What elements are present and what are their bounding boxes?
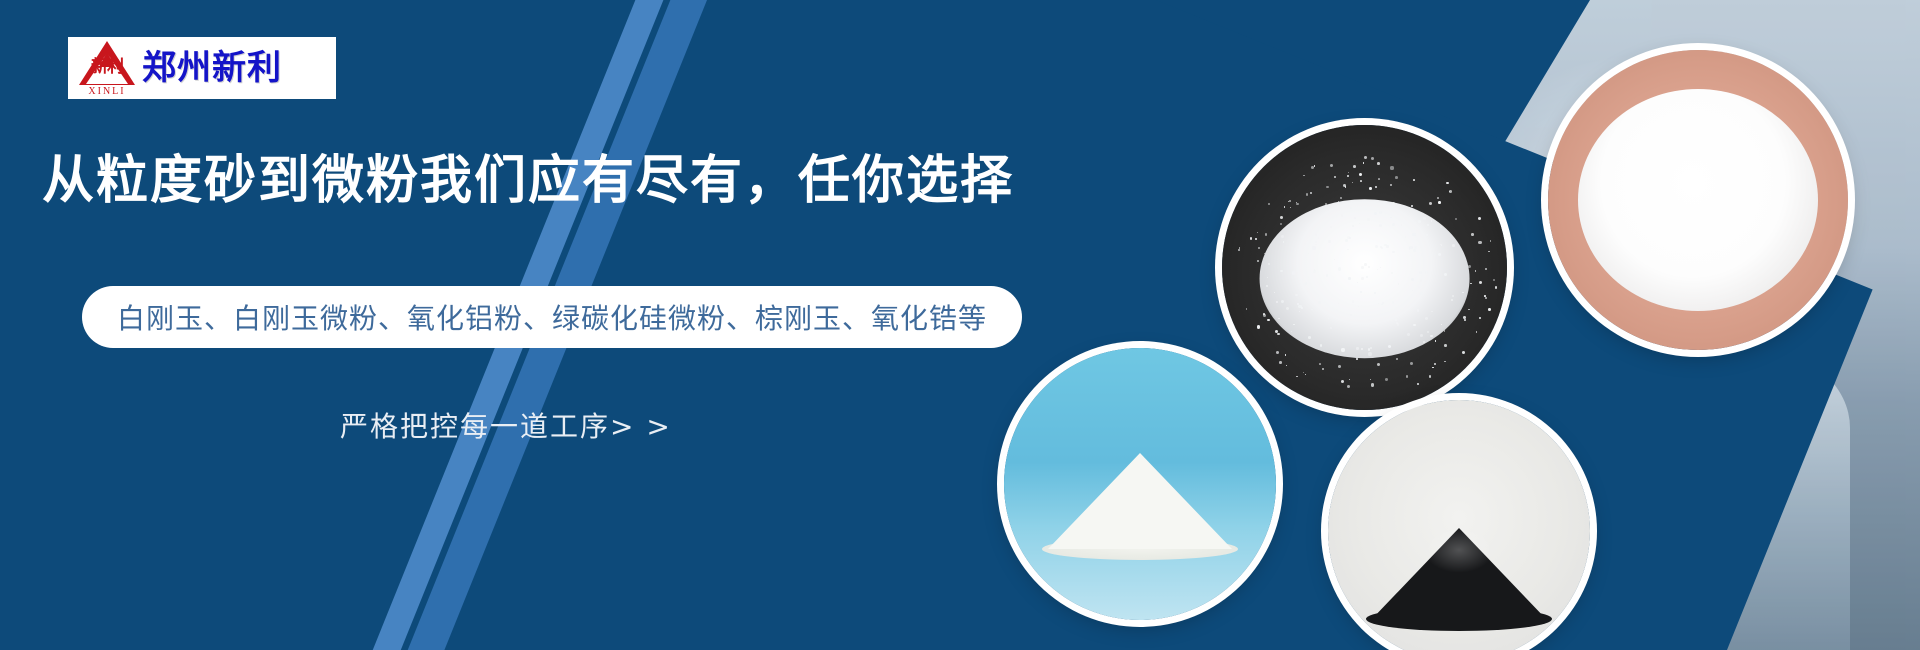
grit-speck <box>1347 175 1349 177</box>
grit-speck <box>1468 309 1469 310</box>
grit-speck <box>1368 266 1370 268</box>
grit-speck <box>1493 279 1495 281</box>
grit-speck <box>1281 300 1284 303</box>
grit-speck <box>1258 247 1260 249</box>
grit-speck <box>1441 324 1442 325</box>
grit-speck <box>1413 324 1415 326</box>
powder-pile <box>1578 89 1818 311</box>
grit-speck <box>1289 200 1291 202</box>
grit-speck <box>1308 253 1309 254</box>
grit-speck <box>1478 241 1481 244</box>
grit-speck <box>1377 363 1380 366</box>
photo-inner <box>1222 125 1507 410</box>
grit-speck <box>1368 319 1370 321</box>
grit-speck <box>1366 276 1368 278</box>
grit-speck <box>1495 286 1498 289</box>
grit-speck <box>1385 378 1388 381</box>
photo-inner <box>1548 50 1848 350</box>
grit-speck <box>1238 249 1240 251</box>
grit-speck <box>1412 233 1415 236</box>
grit-speck <box>1390 166 1393 169</box>
grit-speck <box>1349 237 1350 238</box>
logo-mark-text: 新利 <box>76 59 138 76</box>
grit-speck <box>1418 220 1421 223</box>
grit-speck <box>1479 281 1482 284</box>
grit-speck <box>1392 202 1395 205</box>
headline: 从粒度砂到微粉我们应有尽有，任你选择 <box>42 138 1014 213</box>
grit-speck <box>1406 375 1409 378</box>
grit-speck <box>1420 279 1422 281</box>
grit-speck <box>1350 207 1352 209</box>
product-photo-white-grit <box>1222 125 1507 410</box>
grit-speck <box>1268 203 1270 205</box>
grit-speck <box>1312 246 1315 249</box>
grit-speck <box>1471 233 1474 236</box>
grit-speck <box>1382 302 1384 304</box>
grit-speck <box>1304 243 1305 244</box>
grit-speck <box>1348 172 1349 173</box>
grit-speck <box>1328 240 1331 243</box>
grit-speck <box>1368 352 1371 355</box>
grit-speck <box>1320 344 1323 347</box>
grit-speck <box>1322 368 1324 370</box>
grit-speck <box>1358 306 1359 307</box>
grit-speck <box>1455 218 1458 221</box>
grit-speck <box>1334 176 1337 179</box>
grit-speck <box>1338 365 1341 368</box>
grit-speck <box>1291 331 1292 332</box>
grit-speck <box>1326 186 1329 189</box>
grit-speck <box>1298 305 1301 308</box>
grit-speck <box>1488 251 1490 253</box>
product-photo-white-micro-powder <box>1548 50 1848 350</box>
grit-speck <box>1432 367 1433 368</box>
product-list-pill[interactable]: 白刚玉、白刚玉微粉、氧化铝粉、绿碳化硅微粉、棕刚玉、氧化锆等 <box>82 286 1022 348</box>
grit-speck <box>1444 273 1447 276</box>
grit-speck <box>1280 216 1283 219</box>
grit-speck <box>1347 385 1350 388</box>
grit-speck <box>1314 165 1315 166</box>
grit-speck <box>1437 197 1439 199</box>
grit-speck <box>1375 186 1377 188</box>
grit-speck <box>1485 297 1487 299</box>
grit-speck <box>1427 331 1429 333</box>
grit-speck <box>1444 330 1446 332</box>
grit-speck <box>1313 270 1315 272</box>
grit-speck <box>1427 224 1429 226</box>
grit-speck <box>1330 327 1331 328</box>
grit-speck <box>1413 179 1415 181</box>
grit-speck <box>1300 279 1302 281</box>
grit-speck <box>1444 344 1447 347</box>
grit-speck <box>1410 362 1413 365</box>
grit-speck <box>1307 291 1308 292</box>
grit-speck <box>1341 348 1344 351</box>
grit-speck <box>1413 249 1416 252</box>
grit-speck <box>1250 237 1253 240</box>
grit-speck <box>1409 246 1412 249</box>
grit-speck <box>1361 348 1363 350</box>
grit-speck <box>1356 358 1358 360</box>
grit-speck <box>1338 267 1341 270</box>
xinli-triangle-logo-icon: 新利 XINLI <box>76 40 138 96</box>
grit-speck <box>1438 201 1441 204</box>
grit-speck <box>1303 372 1304 373</box>
company-name: 郑州新利 <box>142 51 282 85</box>
grit-speck <box>1395 176 1398 179</box>
grit-speck <box>1276 351 1279 354</box>
grit-speck <box>1363 162 1365 164</box>
grit-speck <box>1370 379 1371 380</box>
grit-speck <box>1341 380 1344 383</box>
grit-speck <box>1288 201 1289 202</box>
grit-speck <box>1429 375 1432 378</box>
grit-speck <box>1426 234 1427 235</box>
grit-speck <box>1429 202 1432 205</box>
grit-speck <box>1350 314 1351 315</box>
grit-speck <box>1315 244 1316 245</box>
grit-speck <box>1407 333 1410 336</box>
grit-speck <box>1296 376 1297 377</box>
grit-speck <box>1364 156 1367 159</box>
grit-speck <box>1390 184 1391 185</box>
grit-speck <box>1315 241 1317 243</box>
grit-speck <box>1383 202 1385 204</box>
grit-speck <box>1274 292 1275 293</box>
grit-speck <box>1280 223 1282 225</box>
grit-speck <box>1365 208 1367 210</box>
grit-speck <box>1308 277 1309 278</box>
grit-speck <box>1278 318 1279 319</box>
grit-speck <box>1257 325 1260 328</box>
grit-speck <box>1303 283 1306 286</box>
grit-speck <box>1353 165 1356 168</box>
grit-speck <box>1476 331 1478 333</box>
grit-speck <box>1334 259 1335 260</box>
grit-speck <box>1266 285 1268 287</box>
grit-speck <box>1451 299 1453 301</box>
grit-speck <box>1265 233 1267 235</box>
grit-speck <box>1356 347 1358 349</box>
grit-speck <box>1360 180 1362 182</box>
grit-speck <box>1306 193 1308 195</box>
grit-speck <box>1246 308 1248 310</box>
grit-speck <box>1286 365 1287 366</box>
grit-speck <box>1370 347 1372 349</box>
photo-inner <box>1328 400 1590 650</box>
grit-speck <box>1349 379 1350 380</box>
grit-speck <box>1475 270 1477 272</box>
grit-speck <box>1255 238 1257 240</box>
grit-speck <box>1352 182 1353 183</box>
grit-speck <box>1264 253 1265 254</box>
grit-speck <box>1488 308 1491 311</box>
grit-speck <box>1369 187 1372 190</box>
grit-speck <box>1303 175 1305 177</box>
grit-speck <box>1367 218 1370 221</box>
powder-cone <box>1048 453 1232 549</box>
grit-speck <box>1428 256 1430 258</box>
grit-speck <box>1411 278 1414 281</box>
grit-speck <box>1431 220 1432 221</box>
grit-speck <box>1359 173 1362 176</box>
grit-speck <box>1285 354 1287 356</box>
grit-speck <box>1479 317 1481 319</box>
grit-speck <box>1267 277 1268 278</box>
grit-speck <box>1284 206 1285 207</box>
grit-speck <box>1490 240 1492 242</box>
grit-speck <box>1310 192 1312 194</box>
grit-speck <box>1440 244 1441 245</box>
grit-speck <box>1267 319 1269 321</box>
grit-speck <box>1311 166 1314 169</box>
grit-speck <box>1396 358 1398 360</box>
product-list-text: 白刚玉、白刚玉微粉、氧化铝粉、绿碳化硅微粉、棕刚玉、氧化锆等 <box>117 297 987 337</box>
grit-speck <box>1338 303 1339 304</box>
grit-speck <box>1290 207 1291 208</box>
grit-speck <box>1318 237 1319 238</box>
grit-speck <box>1417 383 1419 385</box>
grit-speck <box>1371 157 1374 160</box>
grit-speck <box>1325 203 1327 205</box>
grit-speck <box>1478 217 1481 220</box>
grit-speck <box>1295 294 1297 296</box>
grit-speck <box>1446 182 1449 185</box>
grit-speck <box>1380 203 1382 205</box>
grit-speck <box>1277 333 1280 336</box>
grit-speck <box>1378 178 1380 180</box>
grit-speck <box>1299 311 1300 312</box>
process-cta-link[interactable]: 严格把控每一道工序> > <box>340 405 672 445</box>
grit-speck <box>1468 265 1471 268</box>
company-logo[interactable]: 新利 XINLI 郑州新利 <box>68 37 336 99</box>
grit-speck <box>1257 232 1258 233</box>
grit-pile <box>1259 199 1470 359</box>
grit-speck <box>1279 361 1282 364</box>
grit-speck <box>1444 361 1445 362</box>
grit-speck <box>1257 260 1259 262</box>
grit-speck <box>1377 162 1380 165</box>
grit-speck <box>1462 292 1463 293</box>
grit-speck <box>1292 271 1295 274</box>
grit-speck <box>1239 247 1241 249</box>
grit-speck <box>1371 383 1374 386</box>
grit-speck <box>1305 374 1306 375</box>
product-photo-black-grit <box>1328 400 1590 650</box>
grit-speck <box>1361 277 1364 280</box>
grit-speck <box>1392 301 1394 303</box>
grit-speck <box>1361 266 1364 269</box>
promotional-banner: 新利 XINLI 郑州新利 从粒度砂到微粉我们应有尽有，任你选择 白刚玉、白刚玉… <box>0 0 1920 650</box>
grit-speck <box>1263 314 1266 317</box>
grit-speck <box>1485 268 1487 270</box>
grit-speck <box>1431 311 1433 313</box>
grit-speck <box>1319 363 1321 365</box>
grit-speck <box>1470 283 1472 285</box>
logo-mark-pinyin: XINLI <box>76 86 138 97</box>
grit-speck <box>1276 301 1278 303</box>
grit-speck <box>1435 340 1436 341</box>
grit-speck <box>1340 197 1342 199</box>
grit-speck <box>1330 164 1333 167</box>
grit-speck <box>1462 351 1465 354</box>
grit-speck <box>1364 263 1367 266</box>
grit-speck <box>1419 271 1422 274</box>
grit-speck <box>1434 363 1436 365</box>
grit-speck <box>1354 217 1356 219</box>
grit-speck <box>1348 277 1350 279</box>
black-grit-gleam <box>1424 527 1494 573</box>
grit-speck <box>1421 253 1423 255</box>
